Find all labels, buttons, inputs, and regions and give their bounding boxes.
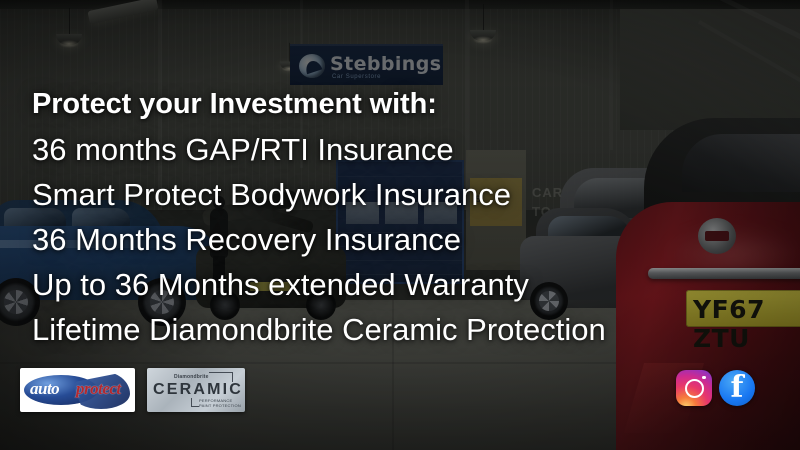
diamondbrite-eyebrow: Diamondbrite [174, 374, 209, 380]
diamondbrite-ceramic-logo: Diamondbrite CERAMIC PERFORMANCE PAINT P… [147, 368, 245, 412]
partner-logos: auto protect Diamondbrite CERAMIC PERFOR… [20, 368, 245, 412]
benefit-line-1: 36 months GAP/RTI Insurance [32, 127, 752, 172]
instagram-icon[interactable] [676, 370, 712, 406]
benefit-line-3: 36 Months Recovery Insurance [32, 217, 752, 262]
benefit-line-2: Smart Protect Bodywork Insurance [32, 172, 752, 217]
promo-slide: Stebbings Car Superstore S CAR TO [0, 0, 800, 450]
ceramic-wordmark: CERAMIC [153, 381, 243, 399]
promo-copy-block: Protect your Investment with: 36 months … [32, 82, 752, 352]
autoprotect-logo: auto protect [20, 368, 135, 412]
autoprotect-word-protect: protect [76, 379, 121, 399]
social-icons: f [676, 370, 755, 406]
autoprotect-word-auto: auto [30, 379, 59, 399]
promo-heading: Protect your Investment with: [32, 82, 752, 127]
facebook-glyph: f [719, 370, 755, 406]
ceramic-strapline: PERFORMANCE PAINT PROTECTION [199, 398, 245, 408]
benefit-line-5: Lifetime Diamondbrite Ceramic Protection [32, 307, 752, 352]
facebook-icon[interactable]: f [719, 370, 755, 406]
benefit-line-4: Up to 36 Months extended Warranty [32, 262, 752, 307]
